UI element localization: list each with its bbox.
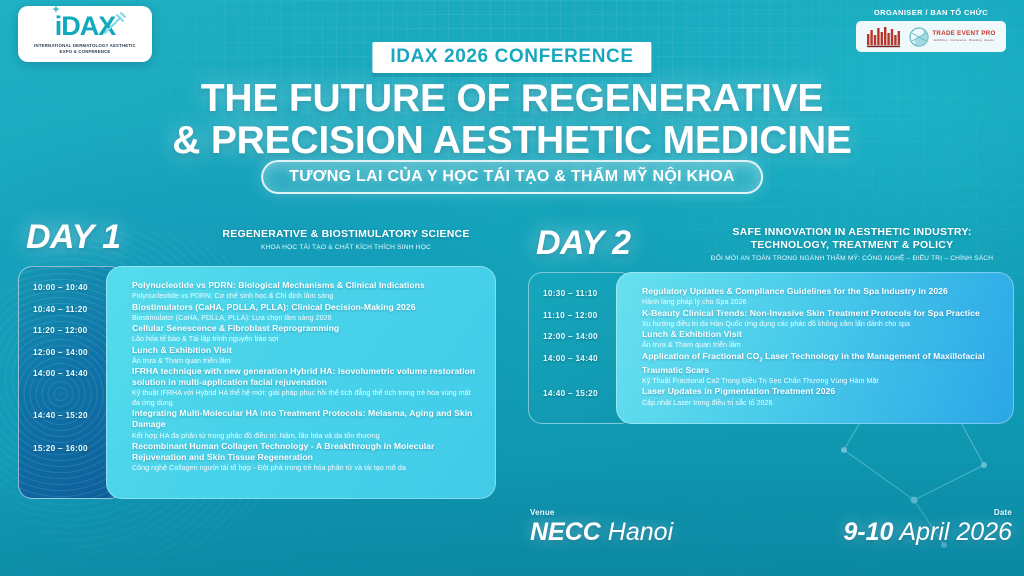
day-2-label: DAY 2	[536, 224, 631, 263]
day-2-session-panel: Regulatory Updates & Compliance Guidelin…	[616, 272, 1014, 424]
session-title-en: Lunch & Exhibition Visit	[642, 329, 998, 340]
session-row[interactable]: Lunch & Exhibition VisitĂn trưa & Tham q…	[642, 329, 998, 351]
session-title-vi: Ăn trưa & Tham quan triển lãm	[642, 341, 998, 350]
session-row[interactable]: K-Beauty Clinical Trends: Non-Invasive S…	[642, 308, 998, 330]
session-row[interactable]: IFRHA technique with new generation Hybr…	[132, 366, 480, 408]
session-row[interactable]: Lunch & Exhibition VisitĂn trưa & Tham q…	[132, 345, 480, 367]
date-month-year: April 2026	[899, 518, 1012, 546]
session-title-vi: Ăn trưa & Tham quan triển lãm	[132, 357, 480, 366]
day-2-theme-en-line2: TECHNOLOGY, TREATMENT & POLICY	[692, 239, 1012, 252]
session-time: 11:10 – 12:00	[543, 311, 597, 320]
organiser-block: ORGANISER / BAN TỔ CHỨC TRADE EVENT PRO	[856, 8, 1006, 52]
day-1-theme: REGENERATIVE & BIOSTIMULATORY SCIENCE KH…	[196, 228, 496, 251]
day-1-theme-vi: KHOA HỌC TÁI TẠO & CHẤT KÍCH THÍCH SINH …	[196, 244, 496, 251]
day-2-theme: SAFE INNOVATION IN AESTHETIC INDUSTRY: T…	[692, 226, 1012, 262]
session-title-vi: Kỹ thuật IFRHA với Hybrid HA thế hệ mới:…	[132, 389, 480, 408]
day-1-session-panel: Polynucleotide vs PDRN: Biological Mecha…	[106, 266, 496, 499]
session-title-vi: Xu hướng điều trị da Hàn Quốc ứng dụng c…	[642, 320, 998, 329]
syringe-icon	[103, 9, 129, 35]
date-block: Date 9-10 April 2026	[843, 508, 1012, 546]
session-time: 14:00 – 14:40	[33, 369, 88, 378]
day-1-header: DAY 1 REGENERATIVE & BIOSTIMULATORY SCIE…	[18, 218, 496, 266]
conference-badge-text: IDAX 2026 CONFERENCE	[390, 46, 633, 67]
session-title-vi: Hành lang pháp lý cho Spa 2026	[642, 298, 998, 307]
partner-name: TRADE EVENT PRO	[932, 31, 995, 37]
session-time: 10:00 – 10:40	[33, 283, 88, 292]
day-2-block: DAY 2 SAFE INNOVATION IN AESTHETIC INDUS…	[528, 224, 1014, 424]
organiser-label: ORGANISER / BAN TỔ CHỨC	[856, 8, 1006, 17]
session-time: 12:00 – 14:00	[33, 348, 88, 357]
day-2-theme-vi: ĐỔI MỚI AN TOÀN TRONG NGÀNH THẨM MỸ: CÔN…	[692, 255, 1012, 262]
session-row[interactable]: Polynucleotide vs PDRN: Biological Mecha…	[132, 280, 480, 302]
session-time: 11:20 – 12:00	[33, 326, 87, 335]
session-title-en: Integrating Multi-Molecular HA into Trea…	[132, 408, 480, 430]
session-title-vi: Công nghệ Collagen người tái tổ hợp - Độ…	[132, 464, 480, 473]
session-time: 14:00 – 14:40	[543, 354, 598, 363]
logo-subtitle: INTERNATIONAL DERMATOLOGY AESTHETIC EXPO…	[34, 43, 136, 56]
partner-tagline: Exhibition · Conference · Branding · Eve…	[932, 39, 995, 42]
session-row[interactable]: Regulatory Updates & Compliance Guidelin…	[642, 286, 998, 308]
subtitle-vietnamese: TƯƠNG LAI CỦA Y HỌC TÁI TẠO & THẨM MỸ NỘ…	[289, 168, 735, 185]
session-row[interactable]: Recombinant Human Collagen Technology - …	[132, 441, 480, 474]
session-time: 10:40 – 11:20	[33, 305, 87, 314]
day-1-theme-en: REGENERATIVE & BIOSTIMULATORY SCIENCE	[196, 228, 496, 241]
organiser-logos[interactable]: TRADE EVENT PRO Exhibition · Conference …	[856, 21, 1006, 52]
venue-block: Venue NECC Hanoi	[530, 508, 673, 546]
venue-name-bold: NECC	[530, 518, 601, 546]
venue-value: NECC Hanoi	[530, 518, 673, 546]
date-value: 9-10 April 2026	[843, 518, 1012, 546]
session-title-en: K-Beauty Clinical Trends: Non-Invasive S…	[642, 308, 998, 319]
session-time: 14:40 – 15:20	[33, 411, 88, 420]
session-title-vi: Kết hợp HA đa phân tử trong phác đồ điều…	[132, 432, 480, 441]
venue-name-rest: Hanoi	[608, 518, 673, 546]
swirl-icon	[909, 27, 929, 47]
logo-wordmark: + iDAX	[55, 13, 116, 40]
medical-cross-icon: +	[53, 5, 58, 16]
session-title-en: Lunch & Exhibition Visit	[132, 345, 480, 356]
session-row[interactable]: Integrating Multi-Molecular HA into Trea…	[132, 408, 480, 441]
day-1-block: DAY 1 REGENERATIVE & BIOSTIMULATORY SCIE…	[18, 218, 496, 499]
session-title-en: Polynucleotide vs PDRN: Biological Mecha…	[132, 280, 480, 291]
session-time: 14:40 – 15:20	[543, 389, 598, 398]
session-time: 12:00 – 14:00	[543, 332, 598, 341]
conference-badge: IDAX 2026 CONFERENCE	[372, 42, 651, 73]
session-row[interactable]: Cellular Senescence & Fibroblast Reprogr…	[132, 323, 480, 345]
page-title-line1: THE FUTURE OF REGENERATIVE	[0, 78, 1024, 120]
page-title-line2: & PRECISION AESTHETIC MEDICINE	[0, 120, 1024, 162]
day-2-header: DAY 2 SAFE INNOVATION IN AESTHETIC INDUS…	[528, 224, 1014, 272]
session-title-en: Cellular Senescence & Fibroblast Reprogr…	[132, 323, 480, 334]
session-row[interactable]: Application of Fractional CO2 Laser Tech…	[642, 351, 998, 387]
session-title-vi: Biostimulator (CaHA, PDLLA, PLLA): Lựa c…	[132, 314, 480, 323]
session-title-en: IFRHA technique with new generation Hybr…	[132, 366, 480, 388]
date-label: Date	[843, 508, 1012, 517]
session-title-en: Biostimulators (CaHA, PDLLA, PLLA): Clin…	[132, 302, 480, 313]
trade-event-pro-logo: TRADE EVENT PRO Exhibition · Conference …	[909, 27, 995, 47]
session-title-en: Regulatory Updates & Compliance Guidelin…	[642, 286, 998, 297]
date-days-bold: 9-10	[843, 518, 893, 546]
session-time: 15:20 – 16:00	[33, 444, 88, 453]
session-title-vi: Cập nhật Laser trong điều trị sắc tố 202…	[642, 399, 998, 408]
subtitle-pill: TƯƠNG LAI CỦA Y HỌC TÁI TẠO & THẨM MỸ NỘ…	[261, 160, 763, 194]
day-2-theme-en-line1: SAFE INNOVATION IN AESTHETIC INDUSTRY:	[692, 226, 1012, 239]
idax-logo[interactable]: + iDAX INTERNATIONAL DERMATOLOGY AESTHET…	[18, 6, 152, 62]
session-title-vi: Polynucleotide vs PDRN: Cơ chế sinh học …	[132, 292, 480, 301]
session-title-vi: Lão hóa tế bào & Tái lập trình nguyên bà…	[132, 335, 480, 344]
footer: Venue NECC Hanoi Date 9-10 April 2026	[528, 508, 1014, 554]
session-title-en: Recombinant Human Collagen Technology - …	[132, 441, 480, 463]
venue-label: Venue	[530, 508, 673, 517]
session-row[interactable]: Biostimulators (CaHA, PDLLA, PLLA): Clin…	[132, 302, 480, 324]
day-1-label: DAY 1	[26, 218, 121, 257]
session-time: 10:30 – 11:10	[543, 289, 597, 298]
day-1-card: 10:00 – 10:4010:40 – 11:2011:20 – 12:001…	[18, 266, 496, 499]
day-2-card: 10:30 – 11:1011:10 – 12:0012:00 – 14:001…	[528, 272, 1014, 424]
session-title-en: Application of Fractional CO2 Laser Tech…	[642, 351, 998, 376]
venue-building-icon	[866, 25, 902, 49]
session-row[interactable]: Laser Updates in Pigmentation Treatment …	[642, 386, 998, 408]
logo-subtitle-line2: EXPO & CONFERENCE	[34, 49, 136, 55]
session-title-en: Laser Updates in Pigmentation Treatment …	[642, 386, 998, 397]
page-title: THE FUTURE OF REGENERATIVE & PRECISION A…	[0, 78, 1024, 162]
